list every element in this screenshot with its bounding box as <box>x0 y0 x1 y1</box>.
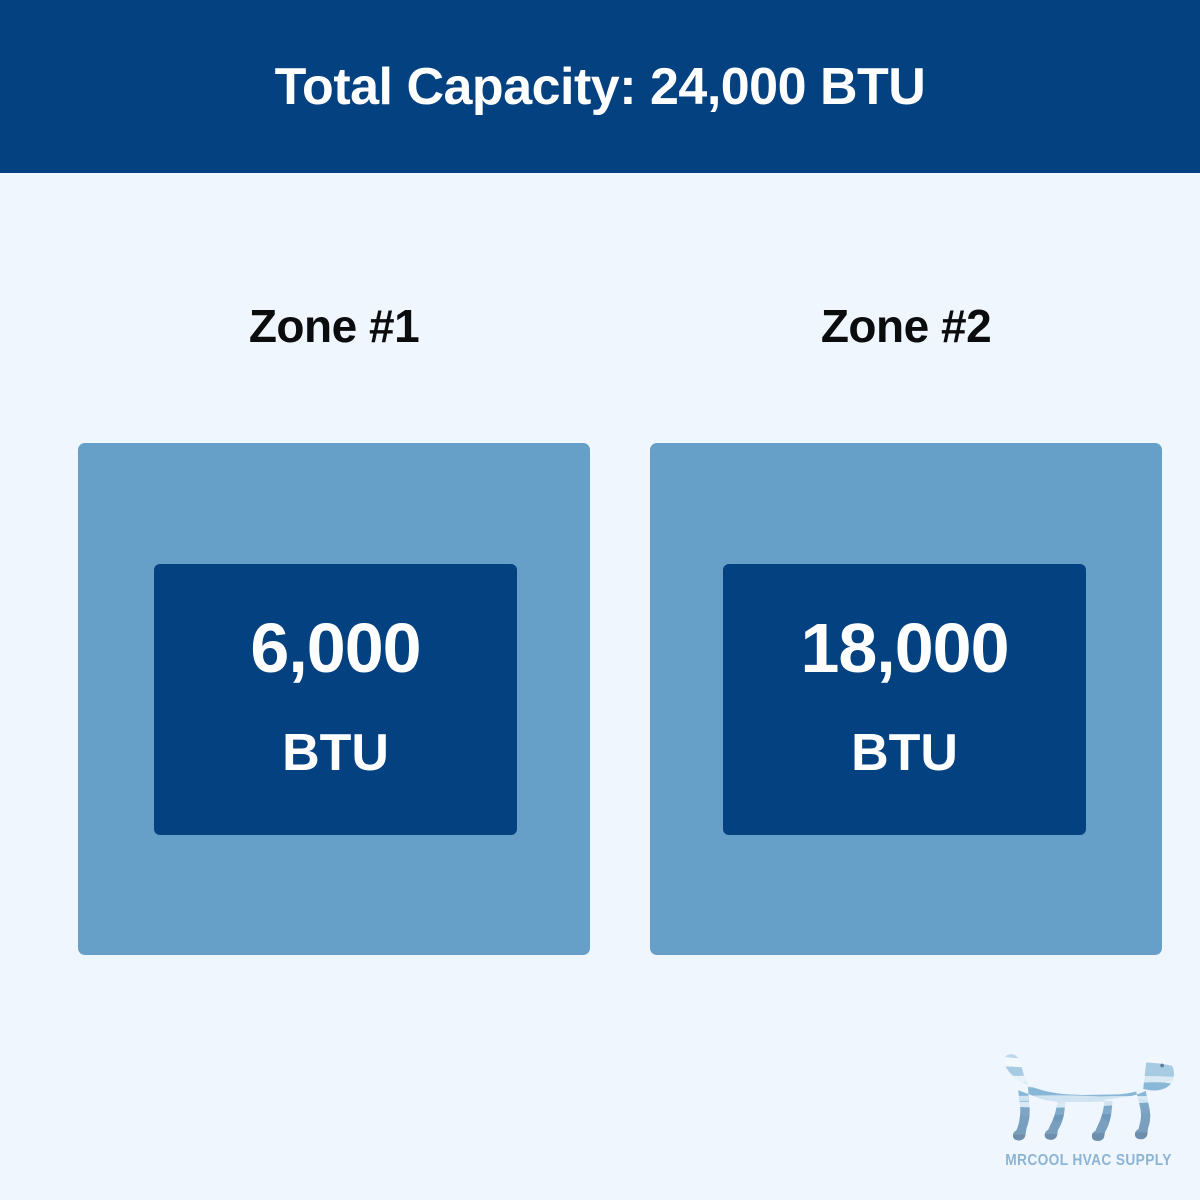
zone-btu-value-1: 6,000 <box>250 613 420 683</box>
page-title: Total Capacity: 24,000 BTU <box>275 61 926 113</box>
zone-btu-unit-2: BTU <box>851 727 958 779</box>
zone-inner-box-2: 18,000 BTU <box>723 564 1086 835</box>
zone-card-1: Zone #1 6,000 BTU <box>78 303 590 955</box>
logo-wordmark: MRCOOL HVAC SUPPLY <box>1000 1152 1176 1170</box>
zone-inner-box-1: 6,000 BTU <box>154 564 517 835</box>
zone-btu-value-2: 18,000 <box>800 613 1008 683</box>
zone-card-2: Zone #2 18,000 BTU <box>650 303 1162 955</box>
header-band: Total Capacity: 24,000 BTU <box>0 0 1200 173</box>
zone-btu-unit-1: BTU <box>282 727 389 779</box>
polar-bear-icon <box>994 1036 1184 1148</box>
zone-outer-box-2: 18,000 BTU <box>650 443 1162 955</box>
brand-logo: MRCOOL HVAC SUPPLY <box>986 1036 1191 1188</box>
zone-outer-box-1: 6,000 BTU <box>78 443 590 955</box>
bear-eye-icon <box>1160 1064 1164 1068</box>
zone-label-1: Zone #1 <box>78 303 590 349</box>
zone-label-2: Zone #2 <box>650 303 1162 349</box>
